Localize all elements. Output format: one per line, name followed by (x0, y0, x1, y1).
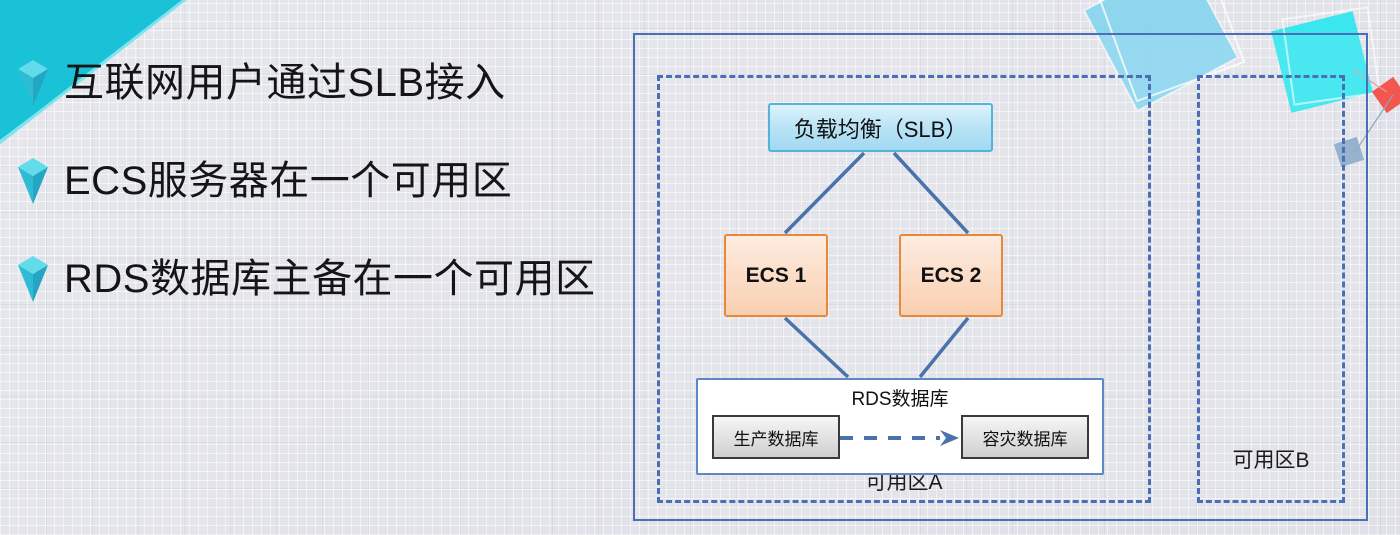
node-ecs-1-label: ECS 1 (746, 264, 807, 288)
db-disaster-recovery[interactable]: 容灾数据库 (961, 415, 1089, 459)
gem-bullet-icon (18, 256, 48, 302)
list-item: ECS服务器在一个可用区 (12, 132, 612, 230)
node-slb-label: 负载均衡（SLB） (794, 112, 968, 144)
gem-bullet-icon (18, 60, 48, 106)
db-production-label: 生产数据库 (734, 425, 819, 450)
db-production[interactable]: 生产数据库 (712, 415, 840, 459)
node-slb[interactable]: 负载均衡（SLB） (768, 103, 993, 152)
db-disaster-recovery-label: 容灾数据库 (983, 425, 1068, 450)
deco-square-red (1372, 77, 1400, 113)
zone-b-container: 可用区B (1197, 75, 1345, 503)
list-item: RDS数据库主备在一个可用区 (12, 230, 612, 328)
rds-group-title: RDS数据库 (698, 384, 1102, 411)
node-ecs-2[interactable]: ECS 2 (899, 234, 1003, 317)
rds-group-container: RDS数据库 生产数据库 容灾数据库 (696, 378, 1104, 475)
node-ecs-1[interactable]: ECS 1 (724, 234, 828, 317)
bullet-list: 互联网用户通过SLB接入 ECS服务器在一个可用区 RDS数据库主备在一个可用区 (12, 34, 612, 328)
node-ecs-2-label: ECS 2 (921, 264, 982, 288)
architecture-diagram: 可用区A 可用区B 负载均衡（SLB） ECS 1 ECS 2 RDS数据库 (633, 33, 1368, 521)
bullet-text: 互联网用户通过SLB接入 (64, 63, 506, 103)
gem-bullet-icon (18, 158, 48, 204)
zone-b-label: 可用区B (1200, 444, 1342, 474)
replication-arrow-icon (840, 428, 961, 448)
bullet-text: RDS数据库主备在一个可用区 (64, 259, 595, 299)
slide-canvas: 互联网用户通过SLB接入 ECS服务器在一个可用区 RDS数据库主备在一个可用区… (0, 0, 1400, 535)
list-item: 互联网用户通过SLB接入 (12, 34, 612, 132)
bullet-text: ECS服务器在一个可用区 (64, 161, 512, 201)
